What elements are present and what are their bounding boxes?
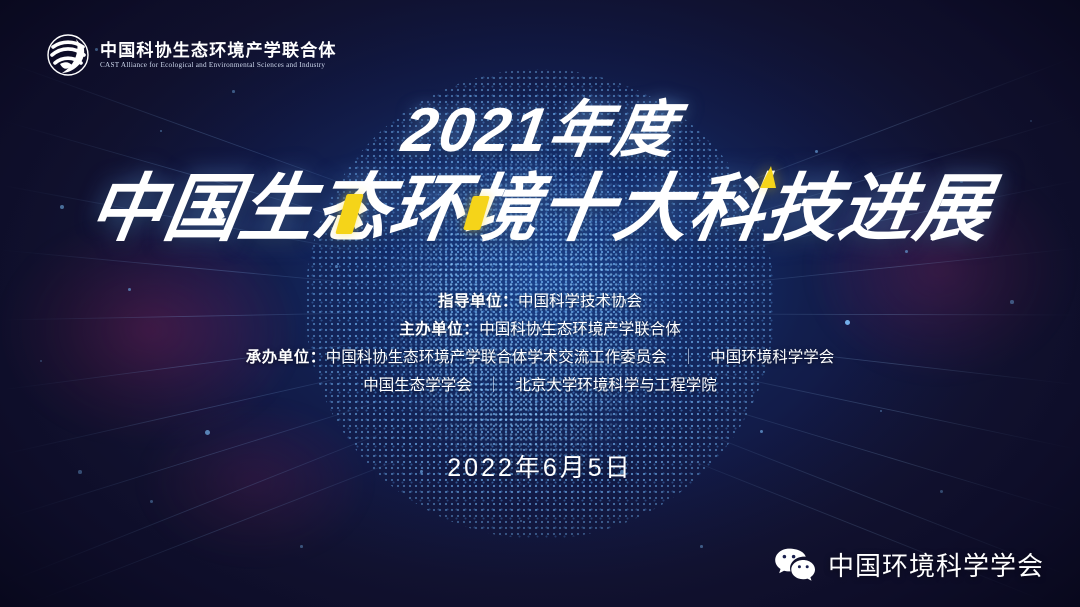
organizer-separator: ｜ bbox=[472, 372, 516, 400]
organizer-line: 承办单位：中国科协生态环境产学联合体学术交流工作委员会｜中国环境科学学会 bbox=[0, 344, 1080, 372]
organizer-name: 中国环境科学学会 bbox=[710, 349, 834, 366]
yellow-accent-stroke-3 bbox=[760, 166, 776, 188]
organizer-separator: ｜ bbox=[667, 344, 711, 372]
cast-globe-mark bbox=[46, 33, 90, 77]
wechat-icon bbox=[774, 547, 816, 583]
organizer-name: 北京大学环境科学与工程学院 bbox=[515, 377, 717, 394]
wechat-account-name: 中国环境科学学会 bbox=[828, 546, 1044, 583]
organizer-line: 指导单位：中国科学技术协会 bbox=[0, 288, 1080, 316]
poster-canvas: 中国科协生态环境产学联合体 CAST Alliance for Ecologic… bbox=[0, 0, 1080, 607]
organizer-label: 承办单位： bbox=[246, 349, 326, 366]
organizer-line: 主办单位：中国科协生态环境产学联合体 bbox=[0, 316, 1080, 344]
cast-alliance-logo: 中国科协生态环境产学联合体 CAST Alliance for Ecologic… bbox=[46, 33, 337, 77]
cast-logo-cn-name: 中国科协生态环境产学联合体 bbox=[100, 42, 337, 61]
organizer-block: 指导单位：中国科学技术协会 主办单位：中国科协生态环境产学联合体 承办单位：中国… bbox=[0, 288, 1080, 400]
cast-logo-en-name: CAST Alliance for Ecological and Environ… bbox=[100, 62, 337, 70]
title-block: 2021年度 中国生态环境十大科技进展 bbox=[0, 100, 1080, 248]
wechat-badge[interactable]: 中国环境科学学会 bbox=[774, 546, 1044, 583]
organizer-label: 指导单位： bbox=[438, 293, 518, 310]
event-date: 2022年6月5日 bbox=[0, 448, 1080, 484]
organizer-name: 中国科学技术协会 bbox=[518, 293, 642, 310]
year-title: 2021年度 bbox=[398, 100, 682, 162]
organizer-name: 中国生态学学会 bbox=[363, 377, 472, 394]
organizer-label: 主办单位： bbox=[399, 321, 479, 338]
organizer-name: 中国科协生态环境产学联合体 bbox=[479, 321, 681, 338]
main-headline: 中国生态环境十大科技进展 bbox=[84, 170, 996, 248]
organizer-name: 中国科协生态环境产学联合体学术交流工作委员会 bbox=[326, 349, 667, 366]
organizer-line: 中国生态学学会｜北京大学环境科学与工程学院 bbox=[0, 372, 1080, 400]
